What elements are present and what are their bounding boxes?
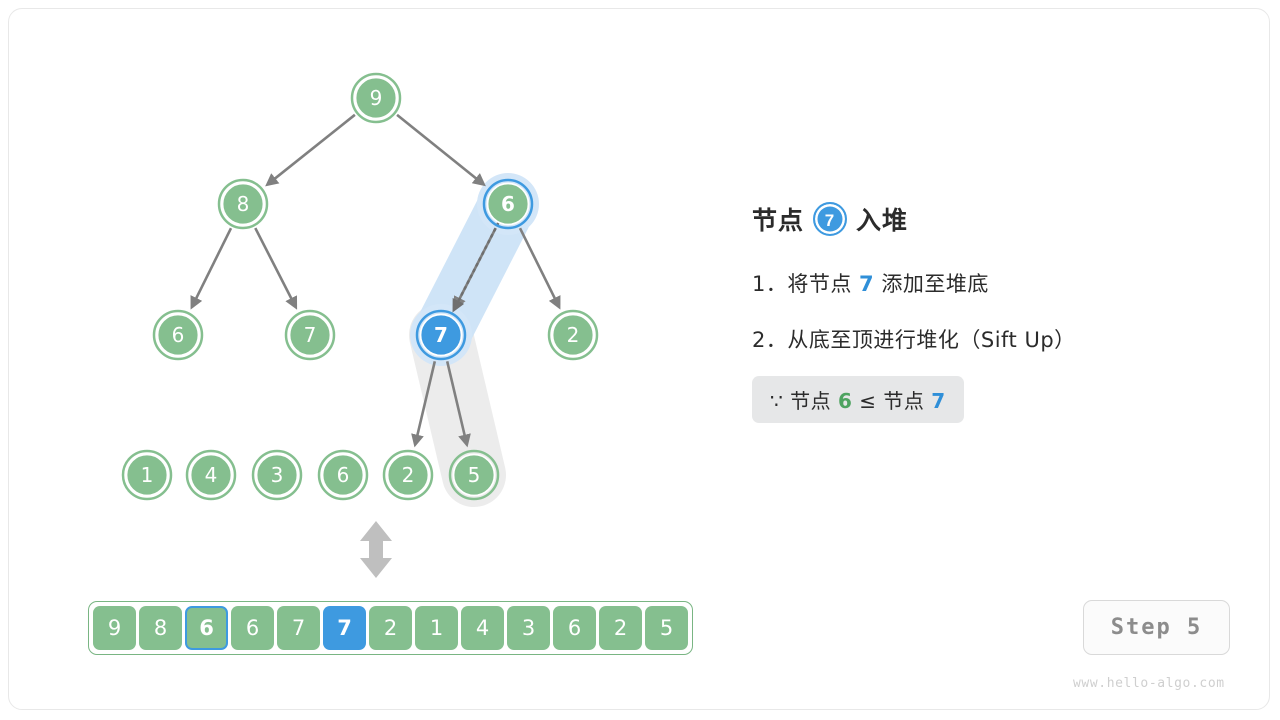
formula-left-value: 6 (838, 389, 852, 413)
tree-node-7: 7 (417, 311, 465, 359)
tree-node-2: 2 (549, 311, 597, 359)
tree-node-label: 4 (205, 463, 218, 487)
tree-node-label: 1 (141, 463, 154, 487)
tree-array-link-icon (360, 521, 392, 578)
panel-title-node-badge: 7 (813, 202, 847, 236)
array-cell: 5 (645, 606, 688, 650)
formula-operator: ≤ (852, 389, 883, 413)
panel-step-1: 1．将节点 7 添加至堆底 (752, 268, 1212, 298)
array-cell: 6 (185, 606, 228, 650)
tree-node-label: 2 (402, 463, 415, 487)
tree-edge (397, 115, 482, 183)
tree-node-6: 6 (319, 451, 367, 499)
array-cell: 2 (369, 606, 412, 650)
array-cell: 1 (415, 606, 458, 650)
formula-mid-text: 节点 (883, 389, 931, 413)
tree-node-label: 3 (271, 463, 284, 487)
tree-node-6: 6 (484, 180, 532, 228)
tree-node-label: 6 (337, 463, 350, 487)
tree-node-label: 5 (468, 463, 481, 487)
step1-text-a: 1．将节点 (752, 272, 859, 296)
tree-nodes: 9866772143625 (123, 74, 597, 499)
tree-edge (193, 228, 231, 305)
array-cell: 7 (277, 606, 320, 650)
tree-node-5: 5 (450, 451, 498, 499)
panel-title-suffix: 入堆 (856, 201, 908, 237)
tree-edges (193, 115, 559, 443)
tree-edge (520, 228, 558, 305)
tree-node-2: 2 (384, 451, 432, 499)
formula-prefix: ∵ 节点 (770, 389, 838, 413)
step1-text-b: 添加至堆底 (874, 272, 989, 296)
step1-number: 7 (859, 272, 874, 296)
tree-node-label: 8 (237, 192, 250, 216)
tree-node-label: 7 (434, 323, 448, 347)
tree-edge (269, 115, 355, 184)
tree-node-label: 9 (370, 86, 383, 110)
tree-node-9: 9 (352, 74, 400, 122)
heap-array: 9866772143625 (88, 601, 693, 655)
tree-node-8: 8 (219, 180, 267, 228)
tree-node-3: 3 (253, 451, 301, 499)
array-cell: 4 (461, 606, 504, 650)
panel-step-2: 2．从底至顶进行堆化（Sift Up） (752, 324, 1212, 354)
tree-node-6: 6 (154, 311, 202, 359)
explanation-panel: 节点 7 入堆 1．将节点 7 添加至堆底 2．从底至顶进行堆化（Sift Up… (752, 196, 1212, 423)
tree-node-7: 7 (286, 311, 334, 359)
tree-node-1: 1 (123, 451, 171, 499)
panel-title-prefix: 节点 (752, 201, 804, 237)
step-badge: Step 5 (1083, 600, 1230, 655)
diagram-stage: 9866772143625 9866772143625 节点 7 入堆 1．将节… (0, 0, 1280, 720)
tree-node-label: 6 (172, 323, 185, 347)
panel-title: 节点 7 入堆 (752, 196, 1212, 242)
tree-node-4: 4 (187, 451, 235, 499)
array-cell: 6 (553, 606, 596, 650)
formula-right-value: 7 (931, 389, 945, 413)
array-cell: 3 (507, 606, 550, 650)
tree-node-label: 7 (304, 323, 317, 347)
panel-formula: ∵ 节点 6 ≤ 节点 7 (752, 376, 964, 423)
array-cell: 9 (93, 606, 136, 650)
tree-node-label: 6 (501, 192, 515, 216)
tree-node-label: 2 (567, 323, 580, 347)
array-cell: 8 (139, 606, 182, 650)
array-cell: 7 (323, 606, 366, 650)
array-cell: 6 (231, 606, 274, 650)
array-cell: 2 (599, 606, 642, 650)
tree-edge (255, 228, 295, 306)
watermark: www.hello-algo.com (1073, 676, 1225, 691)
